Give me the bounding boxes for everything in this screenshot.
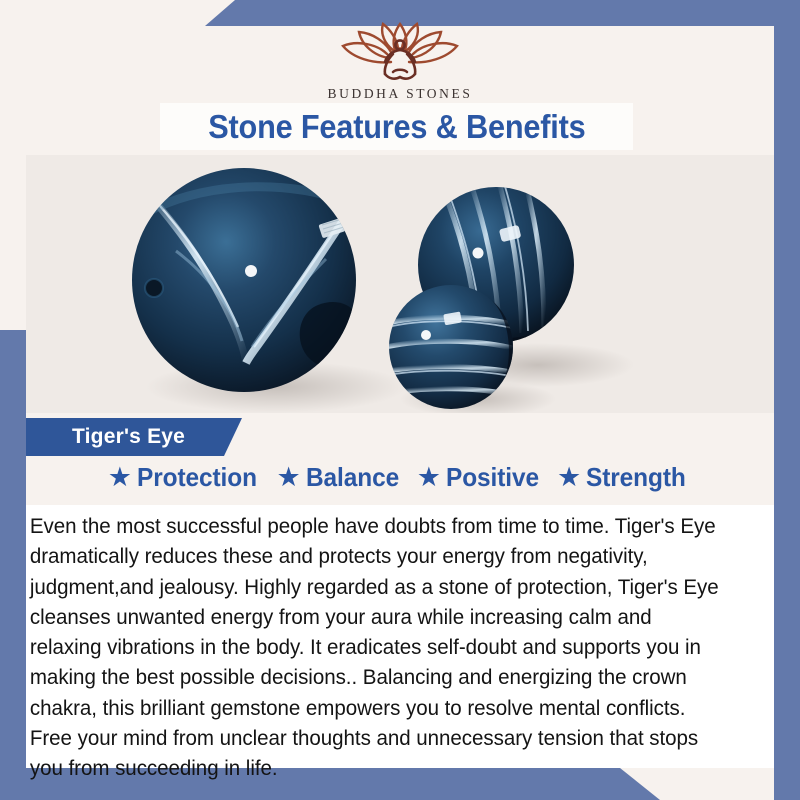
title-band: Stone Features & Benefits <box>160 103 633 150</box>
description-text: Even the most successful people have dou… <box>26 505 748 784</box>
benefit-item: ★ Protection <box>108 462 265 493</box>
stone-name-banner: Tiger's Eye <box>26 418 242 456</box>
star-icon: ★ <box>108 464 132 491</box>
description-card: Even the most successful people have dou… <box>26 505 774 768</box>
benefit-label: Positive <box>446 462 539 493</box>
benefit-label: Strength <box>586 462 686 493</box>
lotus-meditation-icon <box>329 18 471 84</box>
stone-name: Tiger's Eye <box>72 425 185 449</box>
stone-photo <box>26 155 774 413</box>
star-icon: ★ <box>277 464 301 491</box>
infographic-page: BUDDHA STONES Stone Features & Benefits <box>0 0 800 800</box>
frame-bottom-right-corner <box>774 768 800 800</box>
benefit-label: Protection <box>137 462 257 493</box>
benefits-list: ★ Protection ★ Balance ★ Positive ★ Stre… <box>0 462 800 493</box>
page-title: Stone Features & Benefits <box>208 108 585 146</box>
brand-logo: BUDDHA STONES <box>0 18 800 102</box>
star-icon: ★ <box>417 464 441 491</box>
star-icon: ★ <box>557 464 581 491</box>
stone-photo-image <box>26 155 774 413</box>
benefit-item: ★ Balance <box>277 462 405 493</box>
benefit-label: Balance <box>306 462 399 493</box>
benefit-item: ★ Positive <box>417 462 545 493</box>
benefit-item: ★ Strength <box>557 462 692 493</box>
brand-name: BUDDHA STONES <box>0 86 800 102</box>
frame-left-band <box>0 330 26 800</box>
frame-right-band <box>774 0 800 800</box>
